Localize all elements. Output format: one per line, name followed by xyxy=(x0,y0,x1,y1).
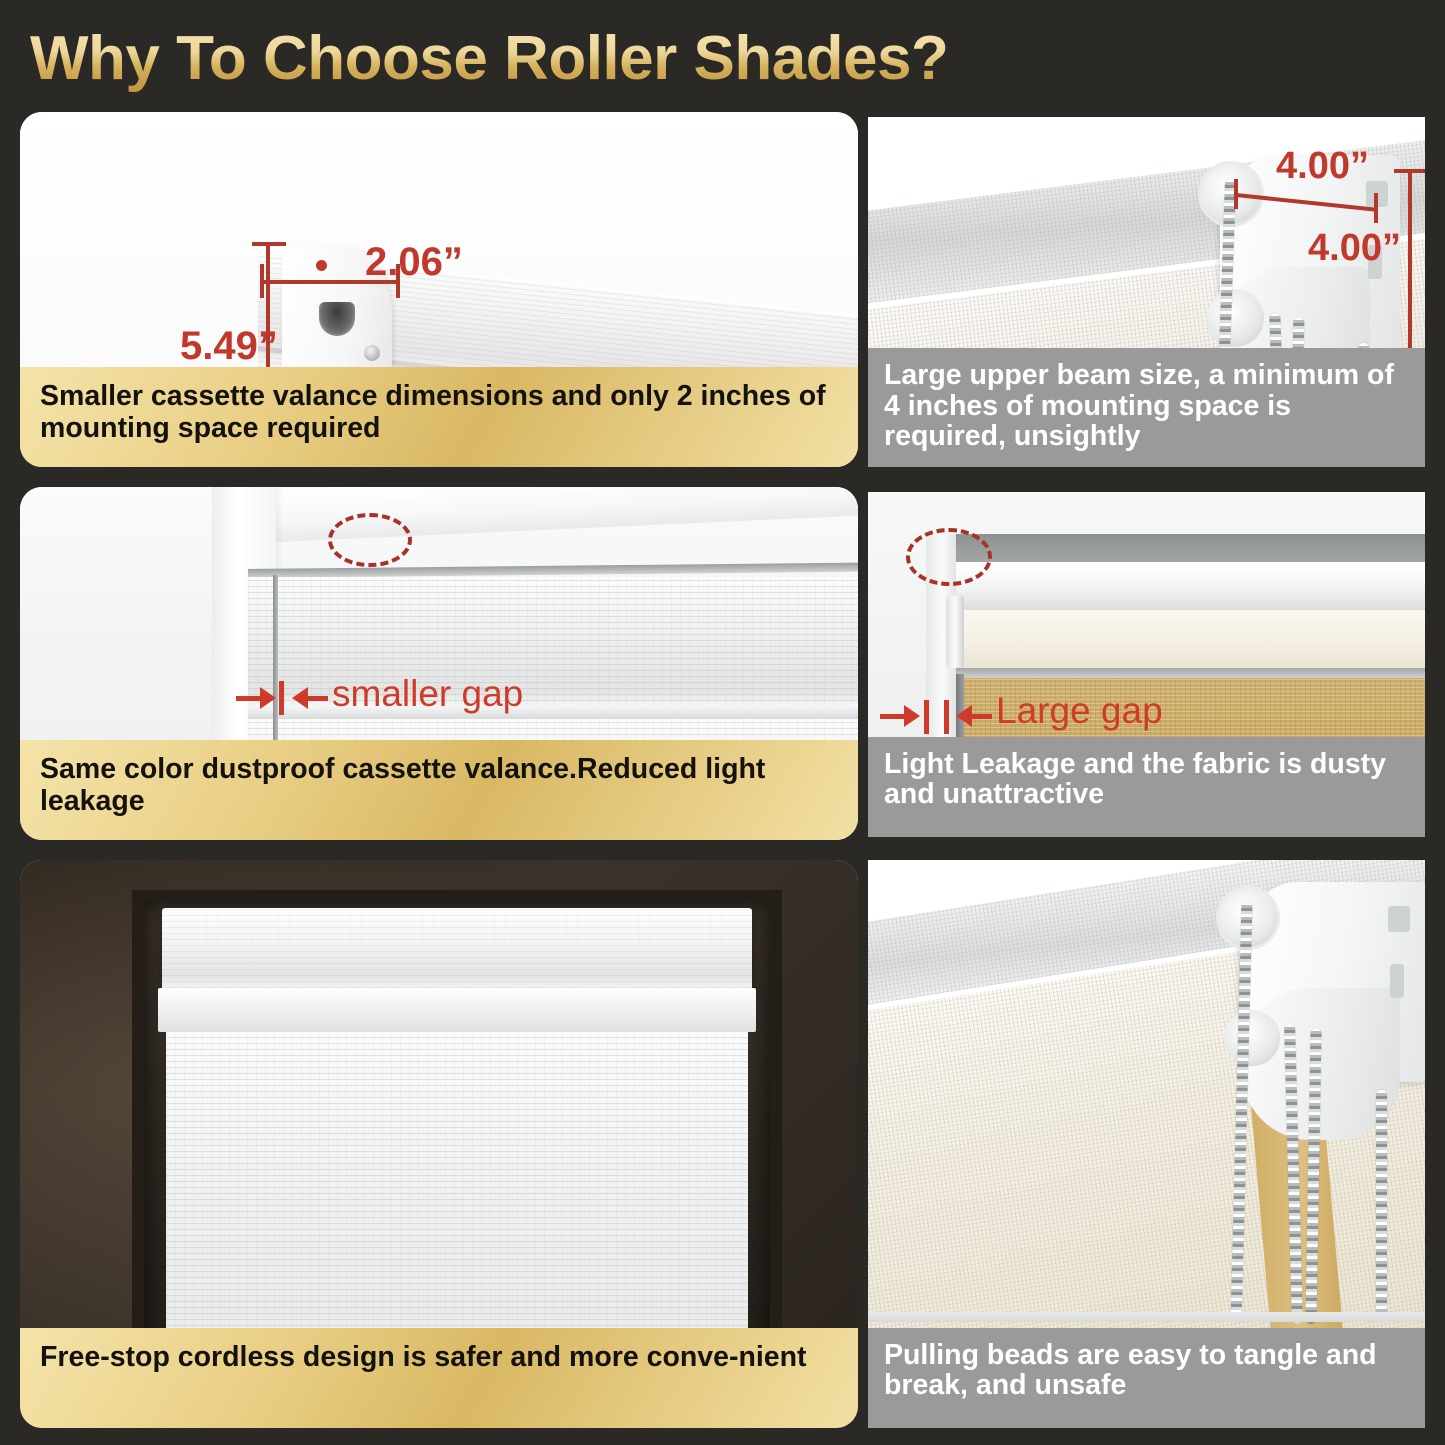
beam-width-tick-left xyxy=(1234,179,1238,209)
height-dimension-label: 5.49” xyxy=(180,324,278,369)
gap-mark-bar xyxy=(279,681,284,715)
panel-pro-smaller-gap: smaller gap Same color dustproof cassett… xyxy=(20,487,858,840)
gap-mark-bar-2 xyxy=(944,700,949,734)
caption-pro-row1: Smaller cassette valance dimensions and … xyxy=(20,367,858,467)
gap-label-large: Large gap xyxy=(996,690,1163,732)
gap-arrow-right-shaft xyxy=(306,696,328,701)
infographic-root: Why To Choose Roller Shades? Why To Choo… xyxy=(0,0,1445,1445)
caption-con-row1: Large upper beam size, a minimum of 4 in… xyxy=(868,348,1425,467)
panel-pro-cordless: Free-stop cordless design is safer and m… xyxy=(20,860,858,1428)
floor-line xyxy=(868,1312,1425,1322)
beam-height-tick-top xyxy=(1394,169,1425,173)
gap-arrow-left-shaft xyxy=(880,714,906,719)
page-title: Why To Choose Roller Shades? xyxy=(30,20,1030,98)
valance-screw xyxy=(364,345,380,361)
panel-con-beads: Pulling beads are easy to tangle and bre… xyxy=(868,860,1425,1428)
caption-pro-row2: Same color dustproof cassette valance.Re… xyxy=(20,740,858,840)
panel-con-beam-dimensions: 4.00” 4.00” Large upper beam size, a min… xyxy=(868,117,1425,467)
con-tube xyxy=(954,562,1425,614)
con-pulley-lower xyxy=(1206,289,1264,347)
gap-arrow-right-shaft xyxy=(970,714,992,719)
width-dim-tick-left xyxy=(260,264,264,298)
width-dimension-label: 2.06” xyxy=(365,240,463,285)
bead-chain-4 xyxy=(1376,1090,1387,1322)
gap-arrow-left-head xyxy=(904,705,920,727)
highlight-circle-large-gap xyxy=(906,528,992,586)
valance-weave xyxy=(162,908,752,994)
beam-height-dim-line xyxy=(1408,169,1412,355)
panel-pro-valance-dimensions: 2.06” 5.49” Smaller cassette valance dim… xyxy=(20,112,858,467)
cassette-valance xyxy=(162,908,752,994)
bracket-notch-1 xyxy=(1388,906,1410,932)
con-bracket-clip xyxy=(946,596,964,668)
dimension-anchor-dot xyxy=(316,260,327,271)
caption-con-row3: Pulling beads are easy to tangle and bre… xyxy=(868,1328,1425,1428)
caption-con-row2: Light Leakage and the fabric is dusty an… xyxy=(868,737,1425,837)
con-cream-band xyxy=(954,610,1425,670)
gap-mark-bar-1 xyxy=(924,700,929,734)
bracket-notch-2 xyxy=(1390,964,1404,998)
con-pulley-lower xyxy=(1224,1010,1280,1066)
caption-pro-row3: Free-stop cordless design is safer and m… xyxy=(20,1328,858,1428)
beam-width-dimension-label: 4.00” xyxy=(1276,145,1369,188)
beam-width-tick-right xyxy=(1374,193,1378,223)
beam-height-dimension-label: 4.00” xyxy=(1308,227,1401,270)
valance-lip xyxy=(158,988,756,1032)
height-dim-tick-top xyxy=(252,242,286,246)
panel-con-large-gap: Large gap Light Leakage and the fabric i… xyxy=(868,492,1425,837)
highlight-circle-small-gap xyxy=(328,513,412,567)
gap-arrow-left-head xyxy=(260,687,276,709)
gap-arrow-left-shaft xyxy=(236,696,262,701)
gap-label-small: smaller gap xyxy=(332,673,523,715)
con-tube-shadow xyxy=(954,668,1425,678)
